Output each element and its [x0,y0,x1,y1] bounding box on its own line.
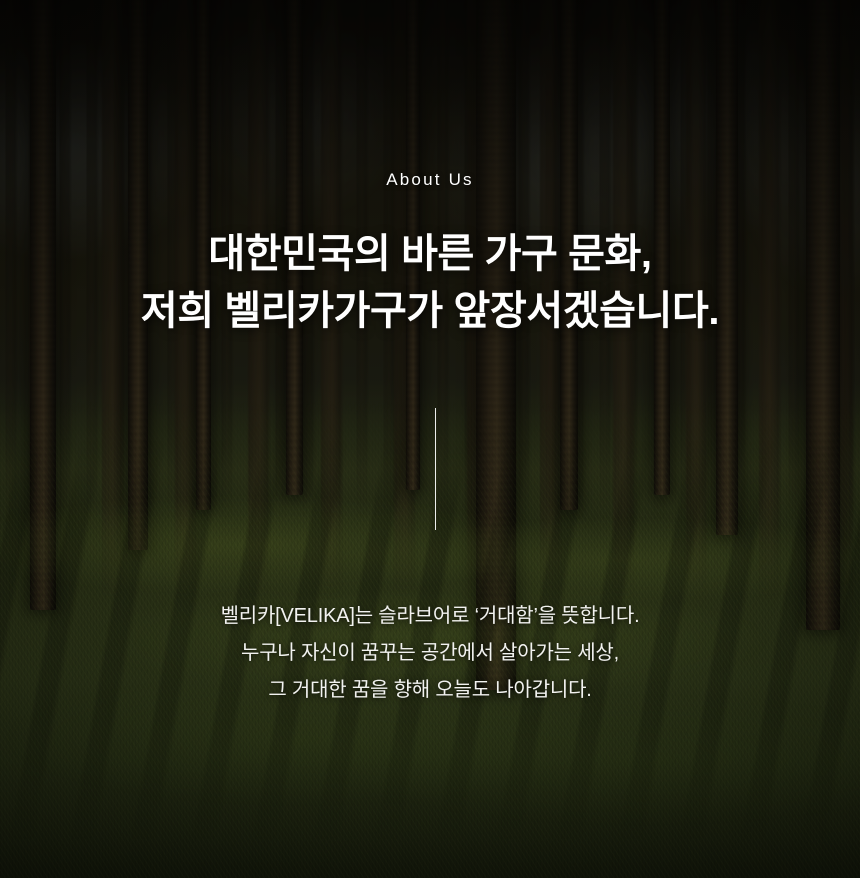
page-title: 대한민국의 바른 가구 문화, 저희 벨리카가구가 앞장서겠습니다. [0,226,860,340]
about-us-hero-section: About Us 대한민국의 바른 가구 문화, 저희 벨리카가구가 앞장서겠습… [0,0,860,878]
lede-line-2: 누구나 자신이 꿈꾸는 공간에서 살아가는 세상, [0,635,860,672]
headline-line-1: 대한민국의 바른 가구 문화, [0,226,860,283]
section-eyebrow-label: About Us [0,168,860,192]
headline-line-2: 저희 벨리카가구가 앞장서겠습니다. [0,283,860,340]
vertical-divider-rule [435,408,436,530]
brand-description-paragraph: 벨리카[VELIKA]는 슬라브어로 ‘거대함’을 뜻합니다. 누구나 자신이 … [0,598,860,709]
lede-line-3: 그 거대한 꿈을 향해 오늘도 나아갑니다. [0,672,860,709]
hero-content: About Us 대한민국의 바른 가구 문화, 저희 벨리카가구가 앞장서겠습… [0,0,860,878]
lede-line-1: 벨리카[VELIKA]는 슬라브어로 ‘거대함’을 뜻합니다. [0,598,860,635]
